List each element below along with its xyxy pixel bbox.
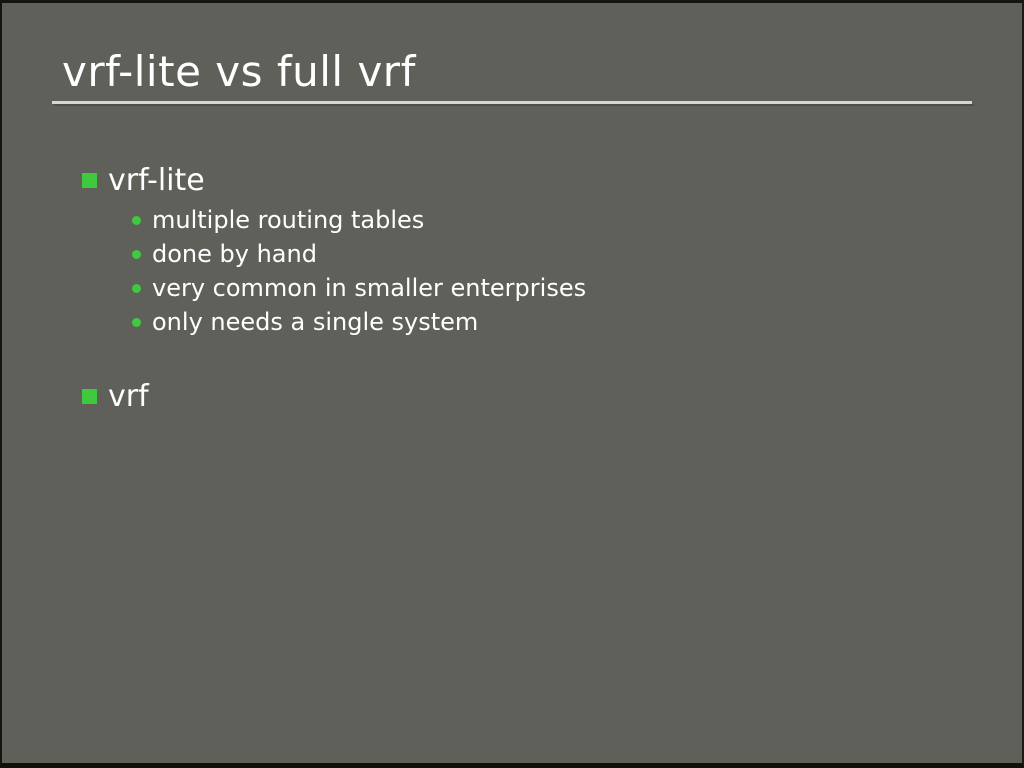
list-item-label: done by hand	[152, 237, 317, 271]
round-bullet-icon	[132, 216, 141, 225]
round-bullet-icon	[132, 250, 141, 259]
list-item: only needs a single system	[130, 305, 980, 339]
bullet-list-level1: vrf-lite multiple routing tables done by…	[80, 161, 980, 417]
page-title: vrf-lite vs full vrf	[52, 45, 974, 99]
slide-body: vrf-lite multiple routing tables done by…	[80, 161, 980, 417]
list-item-label: very common in smaller enterprises	[152, 271, 586, 305]
title-underline-rule	[52, 101, 972, 104]
slide-title-block: vrf-lite vs full vrf	[52, 45, 974, 104]
bullet-list-level2: multiple routing tables done by hand ver…	[108, 203, 980, 339]
list-item: very common in smaller enterprises	[130, 271, 980, 305]
list-spacer	[80, 339, 980, 377]
round-bullet-icon	[132, 318, 141, 327]
list-item-label: only needs a single system	[152, 305, 478, 339]
square-bullet-icon	[82, 173, 97, 188]
list-item: vrf	[80, 377, 980, 417]
list-item: done by hand	[130, 237, 980, 271]
list-item-label: multiple routing tables	[152, 203, 424, 237]
list-item-label: vrf-lite	[108, 161, 205, 201]
list-item: multiple routing tables	[130, 203, 980, 237]
square-bullet-icon	[82, 389, 97, 404]
list-item-label: vrf	[108, 377, 149, 417]
presentation-slide: vrf-lite vs full vrf vrf-lite multiple r…	[0, 0, 1024, 768]
round-bullet-icon	[132, 284, 141, 293]
list-item: vrf-lite multiple routing tables done by…	[80, 161, 980, 339]
